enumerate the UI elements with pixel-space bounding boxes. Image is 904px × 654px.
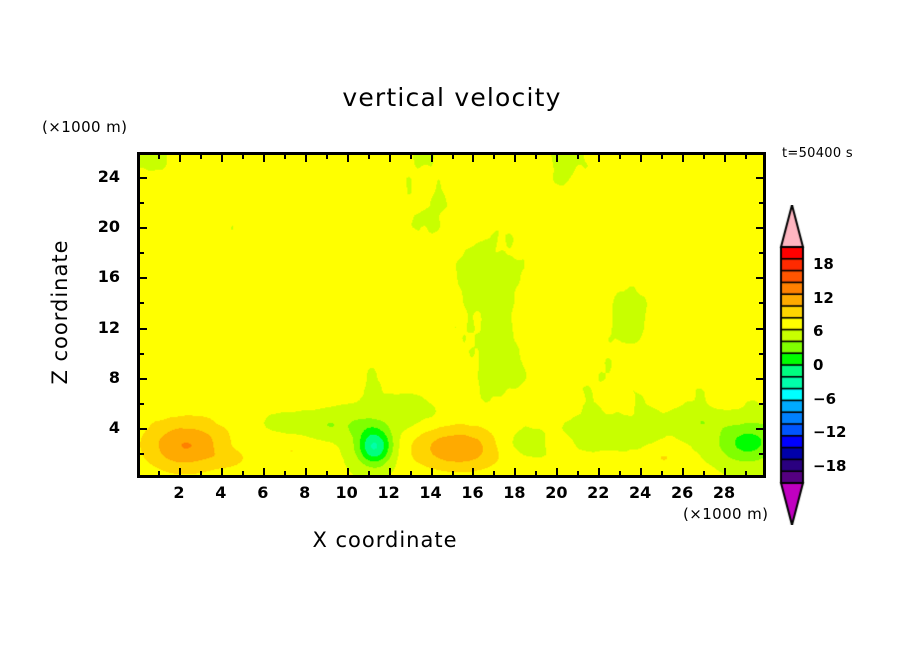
x-tick-22 <box>598 468 600 477</box>
y-tick-label-24: 24 <box>86 167 120 186</box>
x-tick-top-13 <box>410 153 412 159</box>
x-tick-top-17 <box>493 153 495 159</box>
x-tick-label-12: 12 <box>369 483 409 502</box>
x-tick-top-14 <box>431 153 433 162</box>
y-tick-20 <box>138 227 147 229</box>
x-tick-13 <box>410 471 412 477</box>
x-tick-27 <box>703 471 705 477</box>
y-tick-24 <box>138 177 147 179</box>
x-tick-top-23 <box>619 153 621 159</box>
y-tick-4 <box>138 428 147 430</box>
x-tick-3 <box>200 471 202 477</box>
x-tick-top-18 <box>514 153 516 162</box>
x-tick-label-10: 10 <box>327 483 367 502</box>
x-tick-11 <box>368 471 370 477</box>
y-tick-right-4 <box>756 428 765 430</box>
colorbar-label--6: −6 <box>813 390 836 408</box>
y-tick-right-18 <box>759 252 765 254</box>
x-tick-top-8 <box>305 153 307 162</box>
x-tick-19 <box>535 471 537 477</box>
x-tick-26 <box>682 468 684 477</box>
x-tick-top-5 <box>242 153 244 159</box>
y-tick-8 <box>138 378 147 380</box>
y-tick-16 <box>138 277 147 279</box>
y-tick-12 <box>138 328 147 330</box>
x-tick-top-6 <box>263 153 265 162</box>
x-tick-top-2 <box>179 153 181 162</box>
x-tick-18 <box>514 468 516 477</box>
x-tick-label-8: 8 <box>285 483 325 502</box>
x-tick-16 <box>472 468 474 477</box>
x-tick-label-22: 22 <box>578 483 618 502</box>
x-tick-top-26 <box>682 153 684 162</box>
x-tick-12 <box>389 468 391 477</box>
x-tick-8 <box>305 468 307 477</box>
y-tick-2 <box>138 453 144 455</box>
x-tick-15 <box>452 471 454 477</box>
y-tick-right-16 <box>756 277 765 279</box>
y-tick-right-22 <box>759 202 765 204</box>
x-tick-top-9 <box>326 153 328 159</box>
y-tick-right-14 <box>759 302 765 304</box>
chart-title: vertical velocity <box>0 83 904 112</box>
x-tick-label-14: 14 <box>411 483 451 502</box>
y-tick-label-20: 20 <box>86 217 120 236</box>
x-tick-top-10 <box>347 153 349 162</box>
x-tick-7 <box>284 471 286 477</box>
y-tick-right-8 <box>756 378 765 380</box>
x-tick-label-16: 16 <box>452 483 492 502</box>
x-tick-10 <box>347 468 349 477</box>
x-tick-top-4 <box>221 153 223 162</box>
x-tick-label-18: 18 <box>494 483 534 502</box>
x-tick-label-28: 28 <box>704 483 744 502</box>
x-tick-2 <box>179 468 181 477</box>
y-axis-title: Z coordinate <box>48 217 72 407</box>
x-tick-29 <box>745 471 747 477</box>
y-tick-right-24 <box>756 177 765 179</box>
x-tick-top-1 <box>158 153 160 159</box>
x-tick-17 <box>493 471 495 477</box>
x-tick-label-24: 24 <box>620 483 660 502</box>
x-tick-top-21 <box>577 153 579 159</box>
y-tick-label-4: 4 <box>86 418 120 437</box>
x-tick-top-19 <box>535 153 537 159</box>
x-tick-label-4: 4 <box>201 483 241 502</box>
x-tick-top-27 <box>703 153 705 159</box>
x-tick-6 <box>263 468 265 477</box>
x-tick-20 <box>556 468 558 477</box>
x-tick-4 <box>221 468 223 477</box>
x-tick-23 <box>619 471 621 477</box>
x-axis-title: X coordinate <box>0 528 770 552</box>
x-tick-25 <box>661 471 663 477</box>
x-tick-label-2: 2 <box>159 483 199 502</box>
x-tick-top-11 <box>368 153 370 159</box>
x-tick-top-7 <box>284 153 286 159</box>
x-tick-28 <box>724 468 726 477</box>
time-annotation: t=50400 s <box>782 146 853 161</box>
x-tick-5 <box>242 471 244 477</box>
y-tick-right-2 <box>759 453 765 455</box>
x-tick-1 <box>158 471 160 477</box>
x-tick-label-20: 20 <box>536 483 576 502</box>
x-tick-9 <box>326 471 328 477</box>
x-tick-top-22 <box>598 153 600 162</box>
colorbar-label-0: 0 <box>813 356 823 374</box>
contour-field <box>140 155 763 475</box>
y-axis-unit-label: (×1000 m) <box>42 118 127 136</box>
x-tick-21 <box>577 471 579 477</box>
y-tick-right-12 <box>756 328 765 330</box>
x-tick-top-28 <box>724 153 726 162</box>
x-tick-top-16 <box>472 153 474 162</box>
y-tick-label-8: 8 <box>86 368 120 387</box>
x-tick-top-20 <box>556 153 558 162</box>
y-tick-right-6 <box>759 403 765 405</box>
colorbar-label--12: −12 <box>813 423 846 441</box>
x-tick-label-6: 6 <box>243 483 283 502</box>
x-axis-unit-label: (×1000 m) <box>683 505 768 523</box>
y-tick-label-16: 16 <box>86 267 120 286</box>
colorbar-label-12: 12 <box>813 289 834 307</box>
y-tick-14 <box>138 302 144 304</box>
y-tick-18 <box>138 252 144 254</box>
colorbar-label-18: 18 <box>813 255 834 273</box>
colorbar: 181260−6−12−18 <box>779 205 805 525</box>
x-tick-top-12 <box>389 153 391 162</box>
colorbar-label--18: −18 <box>813 457 846 475</box>
y-tick-6 <box>138 403 144 405</box>
x-tick-top-3 <box>200 153 202 159</box>
plot-area <box>137 152 766 478</box>
y-tick-right-10 <box>759 353 765 355</box>
colorbar-label-6: 6 <box>813 322 823 340</box>
y-tick-22 <box>138 202 144 204</box>
x-tick-top-15 <box>452 153 454 159</box>
x-tick-top-24 <box>640 153 642 162</box>
colorbar-gradient <box>779 205 805 525</box>
y-tick-10 <box>138 353 144 355</box>
x-tick-14 <box>431 468 433 477</box>
x-tick-top-25 <box>661 153 663 159</box>
x-tick-top-29 <box>745 153 747 159</box>
x-tick-24 <box>640 468 642 477</box>
y-tick-right-20 <box>756 227 765 229</box>
y-tick-label-12: 12 <box>86 318 120 337</box>
x-tick-label-26: 26 <box>662 483 702 502</box>
